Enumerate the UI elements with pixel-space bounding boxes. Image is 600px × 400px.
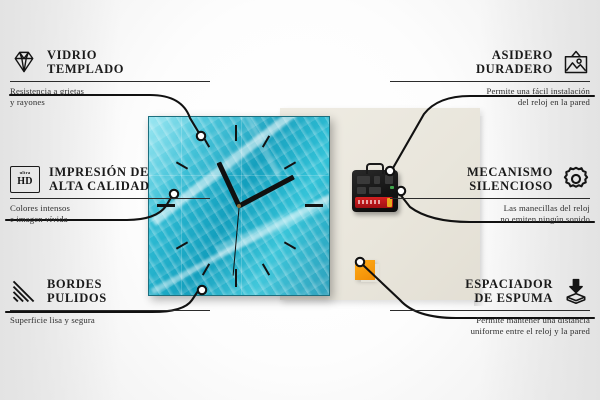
feature-description: Permite mantener una distancia uniforme … [390, 315, 590, 336]
movement-notch [369, 187, 381, 194]
feature-desc-line1: Colores intensos [10, 203, 210, 214]
feature-title-line2: SILENCIOSO [467, 179, 553, 193]
feature-title-line1: IMPRESIÓN DE [49, 165, 150, 179]
feature-desc-line2: uniforme entre el reloj y la pared [390, 326, 590, 337]
clock-tick [235, 125, 237, 141]
feature-divider [10, 81, 210, 82]
feature-title-line2: PULIDOS [47, 291, 107, 305]
hanging-frame-icon [562, 48, 590, 76]
feature-title-line2: DE ESPUMA [465, 291, 553, 305]
feature-desc-line1: Resistencia a grietas [10, 86, 210, 97]
movement-notch [374, 176, 380, 184]
diamond-icon [10, 48, 38, 76]
infographic-canvas: VIDRIO TEMPLADO Resistencia a grietas y … [0, 0, 600, 400]
feature-description: Permite una fácil instalación del reloj … [390, 86, 590, 107]
feature-impresion-alta-calidad[interactable]: ultra HD IMPRESIÓN DE ALTA CALIDAD Color… [10, 165, 210, 224]
feature-header: MECANISMO SILENCIOSO [390, 165, 590, 193]
battery-label [358, 200, 382, 204]
feature-desc-line1: Superficie lisa y segura [10, 315, 210, 326]
feature-desc-line1: Las manecillas del reloj [390, 203, 590, 214]
feature-header: ASIDERO DURADERO [390, 48, 590, 76]
foam-spacer [355, 260, 375, 280]
feature-header: ultra HD IMPRESIÓN DE ALTA CALIDAD [10, 165, 210, 193]
clock-tick [235, 269, 237, 287]
feature-title: IMPRESIÓN DE ALTA CALIDAD [49, 165, 150, 193]
feature-description: Resistencia a grietas y rayones [10, 86, 210, 107]
feature-divider [390, 81, 590, 82]
battery [355, 197, 393, 208]
feature-title-line2: ALTA CALIDAD [49, 179, 150, 193]
feature-mecanismo-silencioso[interactable]: MECANISMO SILENCIOSO Las manecillas del … [390, 165, 590, 224]
feature-title-line1: ASIDERO [476, 48, 553, 62]
clock-center-pin [237, 204, 241, 208]
movement-hook [366, 163, 384, 174]
feature-title: BORDES PULIDOS [47, 277, 107, 305]
feature-title-line1: MECANISMO [467, 165, 553, 179]
feature-title-line1: VIDRIO [47, 48, 124, 62]
feature-desc-line2: e imagen vívida [10, 214, 210, 225]
feature-title: VIDRIO TEMPLADO [47, 48, 124, 76]
feature-divider [390, 310, 590, 311]
feature-title: ESPACIADOR DE ESPUMA [465, 277, 553, 305]
feature-title: MECANISMO SILENCIOSO [467, 165, 553, 193]
feature-header: VIDRIO TEMPLADO [10, 48, 210, 76]
feature-description: Colores intensos e imagen vívida [10, 203, 210, 224]
feature-desc-line2: no emiten ningún sonido [390, 214, 590, 225]
feature-desc-line2: y rayones [10, 97, 210, 108]
polished-edges-icon [10, 277, 38, 305]
feature-vidrio-templado[interactable]: VIDRIO TEMPLADO Resistencia a grietas y … [10, 48, 210, 107]
feature-description: Superficie lisa y segura [10, 315, 210, 326]
feature-divider [390, 198, 590, 199]
feature-header: ESPACIADOR DE ESPUMA [390, 277, 590, 305]
movement-notch [357, 187, 366, 194]
feature-divider [10, 198, 210, 199]
feature-desc-line1: Permite una fácil instalación [390, 86, 590, 97]
feature-desc-line1: Permite mantener una distancia [390, 315, 590, 326]
feature-espaciador-de-espuma[interactable]: ESPACIADOR DE ESPUMA Permite mantener un… [390, 277, 590, 336]
feature-description: Las manecillas del reloj no emiten ningú… [390, 203, 590, 224]
feature-bordes-pulidos[interactable]: BORDES PULIDOS Superficie lisa y segura [10, 277, 210, 326]
feature-title-line1: BORDES [47, 277, 107, 291]
ultra-hd-icon-bottom-label: HD [17, 177, 33, 187]
movement-notch [357, 176, 370, 184]
feature-divider [10, 310, 210, 311]
foam-spacer-icon [562, 277, 590, 305]
feature-header: BORDES PULIDOS [10, 277, 210, 305]
feature-title-line2: TEMPLADO [47, 62, 124, 76]
feature-title-line1: ESPACIADOR [465, 277, 553, 291]
gear-icon [562, 165, 590, 193]
feature-title: ASIDERO DURADERO [476, 48, 553, 76]
ultra-hd-icon: ultra HD [10, 166, 40, 193]
feature-asidero-duradero[interactable]: ASIDERO DURADERO Permite una fácil insta… [390, 48, 590, 107]
feature-desc-line2: del reloj en la pared [390, 97, 590, 108]
feature-title-line2: DURADERO [476, 62, 553, 76]
clock-tick [305, 204, 323, 207]
